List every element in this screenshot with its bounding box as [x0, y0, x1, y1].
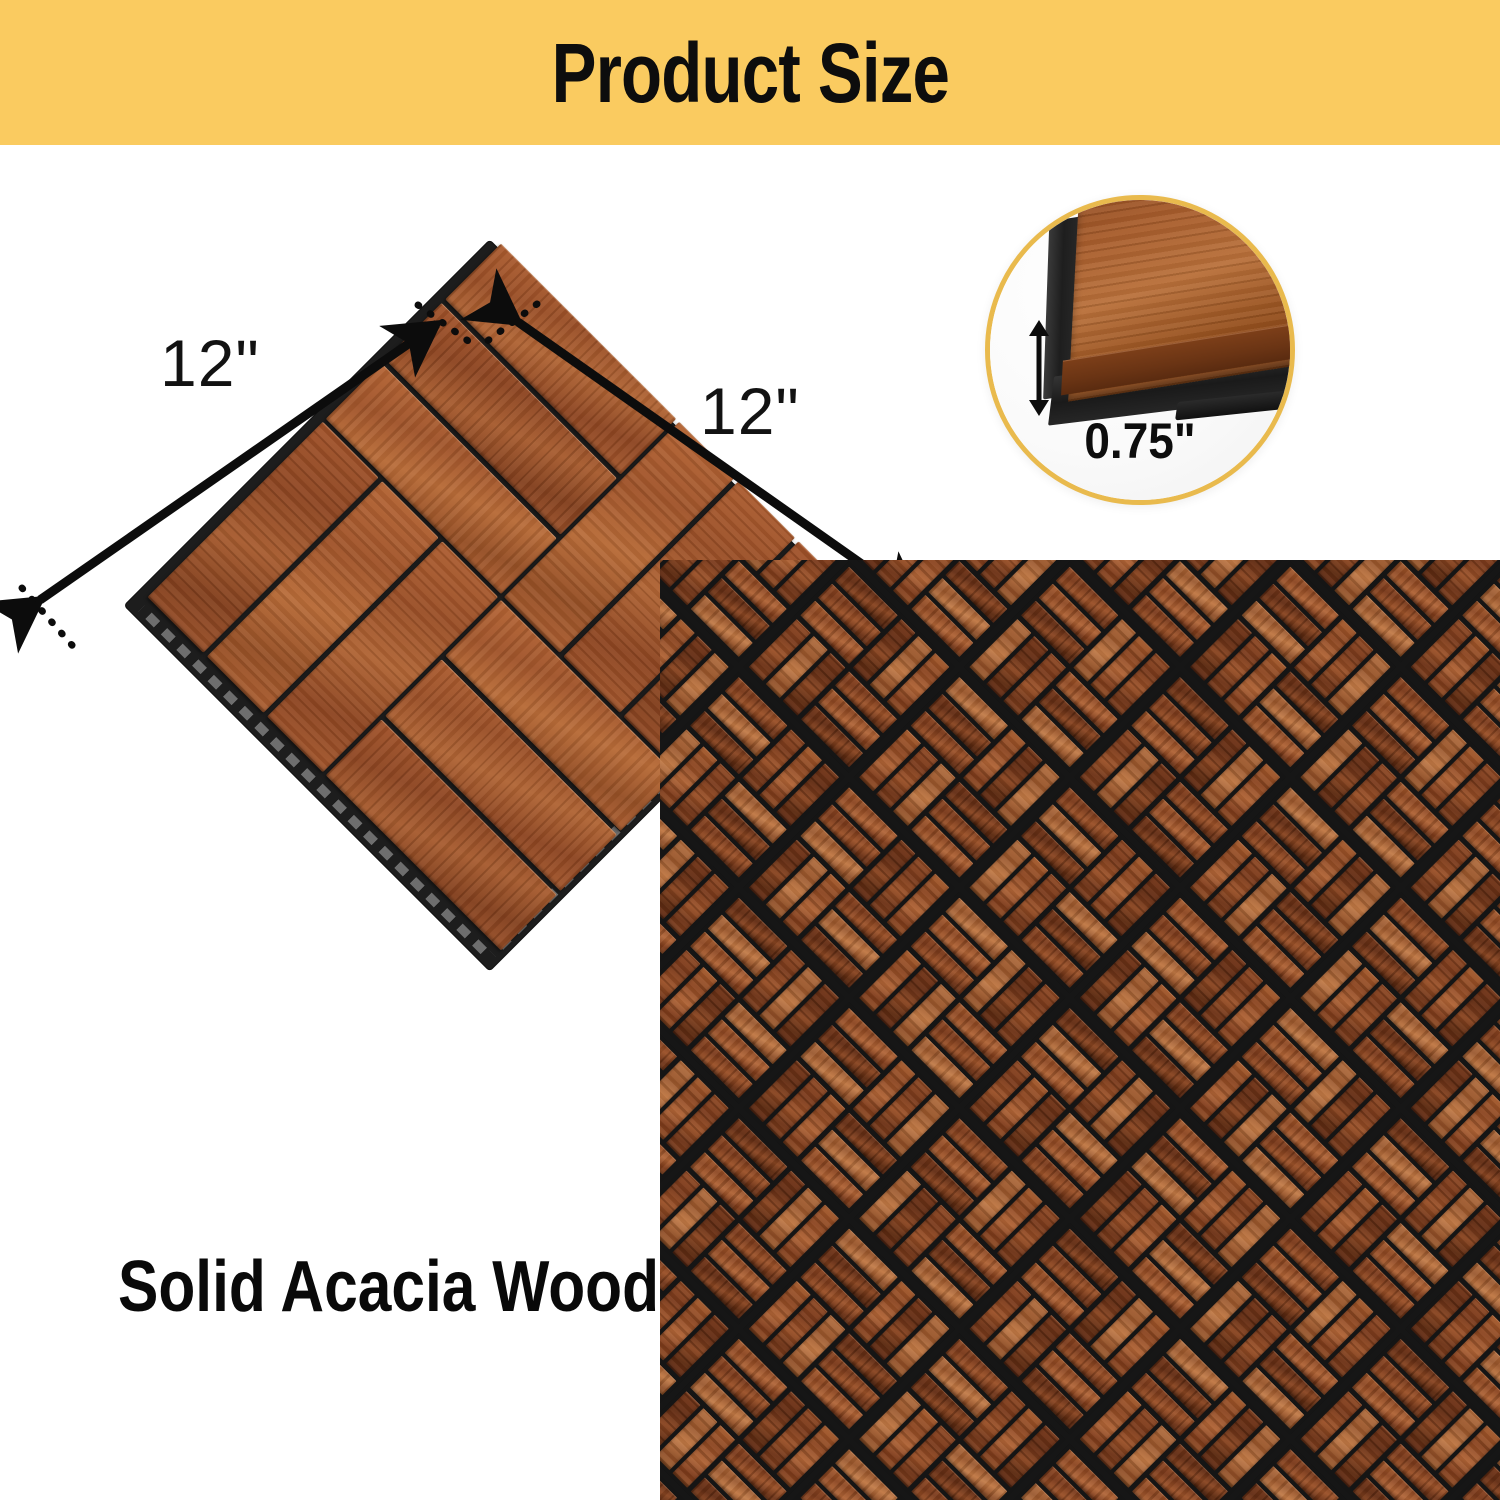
- thickness-detail-callout: 0.75": [985, 195, 1295, 505]
- header-banner: Product Size: [0, 0, 1500, 145]
- deck-rotated-group: [660, 560, 1500, 1500]
- thickness-detail-photo: 0.75": [990, 200, 1290, 500]
- page-title: Product Size: [551, 31, 948, 115]
- dimension-label-right: 12": [700, 378, 800, 444]
- deck-tile-grid: [660, 560, 1500, 1500]
- thickness-arrow-icon: [1026, 318, 1052, 418]
- material-headline: Solid Acacia Wood: [118, 1246, 659, 1328]
- thickness-value-label: 0.75": [1002, 412, 1278, 470]
- product-size-infographic: Product Size: [0, 0, 1500, 1500]
- assembled-deck-photo: [660, 560, 1500, 1500]
- dimension-label-left: 12": [160, 330, 260, 396]
